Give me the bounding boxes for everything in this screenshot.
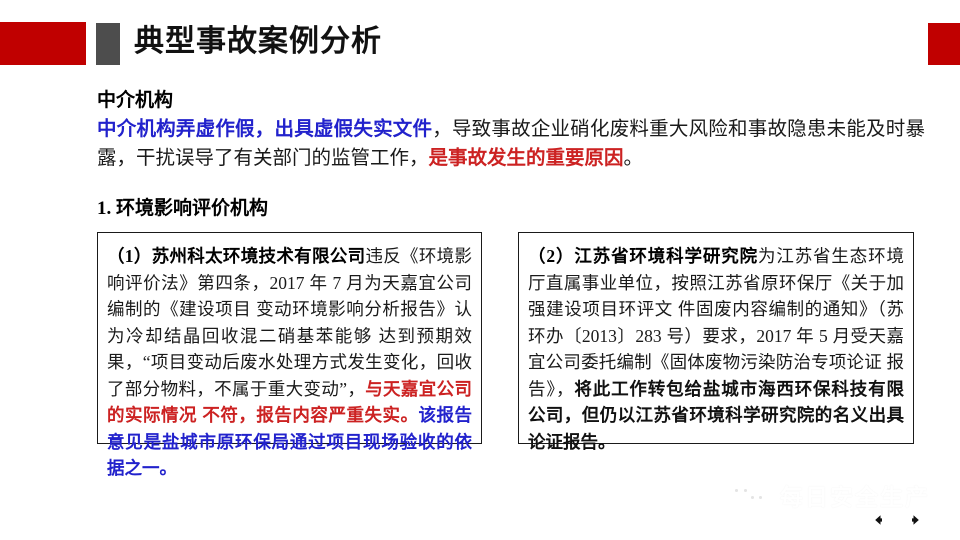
intro-heading: 中介机构 bbox=[97, 88, 925, 114]
box-right-plain: 为江苏省生态环境厅直属事业单位，按照江苏省原环保厅《关于加强建设项目环评文 件固… bbox=[528, 246, 904, 399]
box-right-org: 江苏省环境科学研究院 bbox=[574, 246, 758, 266]
box-left-label: （1） bbox=[107, 246, 152, 266]
arrow-right-icon[interactable] bbox=[904, 508, 928, 532]
intro-red-emphasis: 是事故发生的重要原因 bbox=[429, 147, 624, 169]
navigation-controls bbox=[866, 508, 928, 532]
page-title: 典型事故案例分析 bbox=[134, 20, 382, 64]
box-right-label: （2） bbox=[528, 246, 574, 266]
content-box-right: （2）江苏省环境科学研究院为江苏省生态环境厅直属事业单位，按照江苏省原环保厅《关… bbox=[518, 232, 914, 444]
watermark-text: 每日安全生产 bbox=[780, 478, 930, 512]
intro-period: 。 bbox=[624, 148, 644, 169]
decor-bar-top-left bbox=[0, 22, 86, 65]
intro-blue-emphasis: 中介机构弄虚作假，出具虚假失实文件 bbox=[97, 118, 432, 140]
wechat-icon bbox=[728, 480, 772, 510]
watermark: 每日安全生产 bbox=[728, 478, 930, 512]
decor-bar-title-tab bbox=[96, 23, 120, 65]
slide-canvas: 典型事故案例分析 中介机构 中介机构弄虚作假，出具虚假失实文件，导致事故企业硝化… bbox=[0, 0, 960, 540]
decor-bar-top-right bbox=[928, 23, 960, 65]
box-right-bold-emphasis: 将此工作转包给盐城市海西环保科技有限公司，但仍以江苏省环境科学研究院的名义出具论… bbox=[528, 379, 904, 452]
arrow-left-icon[interactable] bbox=[866, 508, 890, 532]
section-heading: 1. 环境影响评价机构 bbox=[97, 196, 268, 222]
content-box-left-text: （1）苏州科太环境技术有限公司违反《环境影响评价法》第四条，2017 年 7 月… bbox=[107, 243, 472, 482]
content-box-right-text: （2）江苏省环境科学研究院为江苏省生态环境厅直属事业单位，按照江苏省原环保厅《关… bbox=[528, 243, 904, 455]
content-box-left: （1）苏州科太环境技术有限公司违反《环境影响评价法》第四条，2017 年 7 月… bbox=[97, 232, 482, 444]
box-left-plain: 违反《环境影响评价法》第四条，2017 年 7 月为天嘉宜公司编制的《建设项目 … bbox=[107, 246, 472, 399]
intro-block: 中介机构 中介机构弄虚作假，出具虚假失实文件，导致事故企业硝化废料重大风险和事故… bbox=[97, 88, 925, 173]
box-left-org: 苏州科太环境技术有限公司 bbox=[152, 246, 366, 266]
intro-paragraph: 中介机构弄虚作假，出具虚假失实文件，导致事故企业硝化废料重大风险和事故隐患未能及… bbox=[97, 115, 925, 173]
